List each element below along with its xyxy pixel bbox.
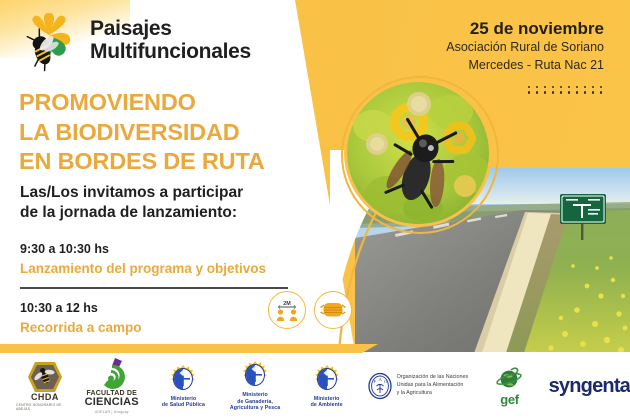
ma-line2: de Ambiente	[311, 402, 343, 409]
fao-emblem-icon: F A O	[367, 372, 393, 400]
svg-text:A: A	[378, 377, 382, 382]
fao-caption: Organización de las Naciones Unidas para…	[397, 374, 469, 397]
dot-row	[528, 91, 602, 93]
invitation-text: Las/Los invitamos a participar de la jor…	[20, 183, 320, 224]
headline-line1: PROMOVIENDO	[19, 88, 319, 118]
social-distance-icon: 2M	[268, 291, 306, 329]
dot-pattern-decoration	[494, 86, 602, 94]
facultad-de-ciencias-logo: FACULTAD DE CIENCIAS UDELAR | Uruguay	[80, 358, 144, 414]
ministerio-ganaderia-agricultura-pesca-logo: Ministerio de Ganadería, Agricultura y P…	[219, 360, 290, 412]
fao-logo: F A O Organización de las Naciones Unida…	[367, 372, 481, 400]
fao-line1: Organización de las Naciones	[397, 374, 469, 382]
fao-line2: Unidas para la Alimentación	[397, 382, 469, 390]
chda-wordmark: CHDA	[31, 393, 59, 402]
schedule-time: 9:30 a 10:30 hs	[20, 240, 302, 259]
gef-wordmark: gef	[500, 393, 519, 406]
gef-globe-icon	[495, 367, 525, 393]
schedule-list: 9:30 a 10:30 hs Lanzamiento del programa…	[20, 240, 302, 337]
bee-on-yellow-flowers-photo	[347, 82, 489, 224]
event-date: 25 de noviembre	[446, 18, 604, 39]
event-address: Mercedes - Ruta Nac 21	[446, 57, 604, 74]
schedule-item: 10:30 a 12 hs Recorrida a campo	[20, 299, 302, 337]
brand-name-line2: Multifuncionales	[90, 41, 251, 64]
brand-name: Paisajes Multifuncionales	[90, 18, 251, 63]
fao-line3: y la Agricultura	[397, 390, 469, 398]
sponsor-logo-strip: CHDA CENTRO HONORARIO DE ABEJAS FACULTAD…	[0, 356, 630, 416]
schedule-description: Lanzamiento del programa y objetivos	[20, 259, 302, 279]
yellow-divider-bar	[0, 344, 378, 353]
event-venue: Asociación Rural de Soriano	[446, 39, 604, 56]
face-mask-icon	[314, 291, 352, 329]
syngenta-wordmark: syngenta	[549, 375, 630, 398]
headline-line3: EN BORDES DE RUTA	[19, 147, 319, 177]
covid-protocol-icons: 2M	[268, 291, 352, 329]
gef-logo: gef	[484, 367, 534, 406]
dot-row	[528, 86, 602, 88]
mgap-line3: Agricultura y Pesca	[230, 405, 280, 412]
facultad-line2: CIENCIAS	[85, 397, 139, 408]
mgap-caption: Ministerio de Ganadería, Agricultura y P…	[230, 392, 280, 412]
svg-text:F: F	[373, 379, 376, 384]
syngenta-logo: syngenta	[549, 375, 630, 398]
invitation-line1: Las/Los invitamos a participar	[20, 183, 320, 203]
brand-lockup: Paisajes Multifuncionales	[18, 10, 251, 72]
bee-flower-logo	[18, 10, 80, 72]
event-details: 25 de noviembre Asociación Rural de Sori…	[446, 18, 604, 74]
schedule-description: Recorrida a campo	[20, 318, 302, 338]
schedule-divider	[20, 287, 288, 289]
headline-line2: LA BIODIVERSIDAD	[19, 118, 319, 148]
poster-canvas: Paisajes Multifuncionales 25 de noviembr…	[0, 0, 630, 420]
ministerio-salud-publica-logo: Ministerio de Salud Pública	[154, 364, 214, 409]
page-title: PROMOVIENDO LA BIODIVERSIDAD EN BORDES D…	[19, 88, 319, 177]
schedule-item: 9:30 a 10:30 hs Lanzamiento del programa…	[20, 240, 302, 278]
chda-logo: CHDA CENTRO HONORARIO DE ABEJAS	[16, 361, 74, 411]
brand-name-line1: Paisajes	[90, 18, 251, 41]
schedule-time: 10:30 a 12 hs	[20, 299, 302, 318]
msp-caption: Ministerio de Salud Pública	[162, 396, 205, 409]
ministerio-ambiente-logo: Ministerio de Ambiente	[297, 364, 357, 409]
svg-text:2M: 2M	[283, 301, 291, 307]
ma-caption: Ministerio de Ambiente	[311, 396, 343, 409]
invitation-line2: de la jornada de lanzamiento:	[20, 203, 320, 223]
facultad-line3: UDELAR | Uruguay	[95, 410, 129, 414]
chda-tagline: CENTRO HONORARIO DE ABEJAS	[16, 403, 74, 411]
msp-line2: de Salud Pública	[162, 402, 205, 409]
